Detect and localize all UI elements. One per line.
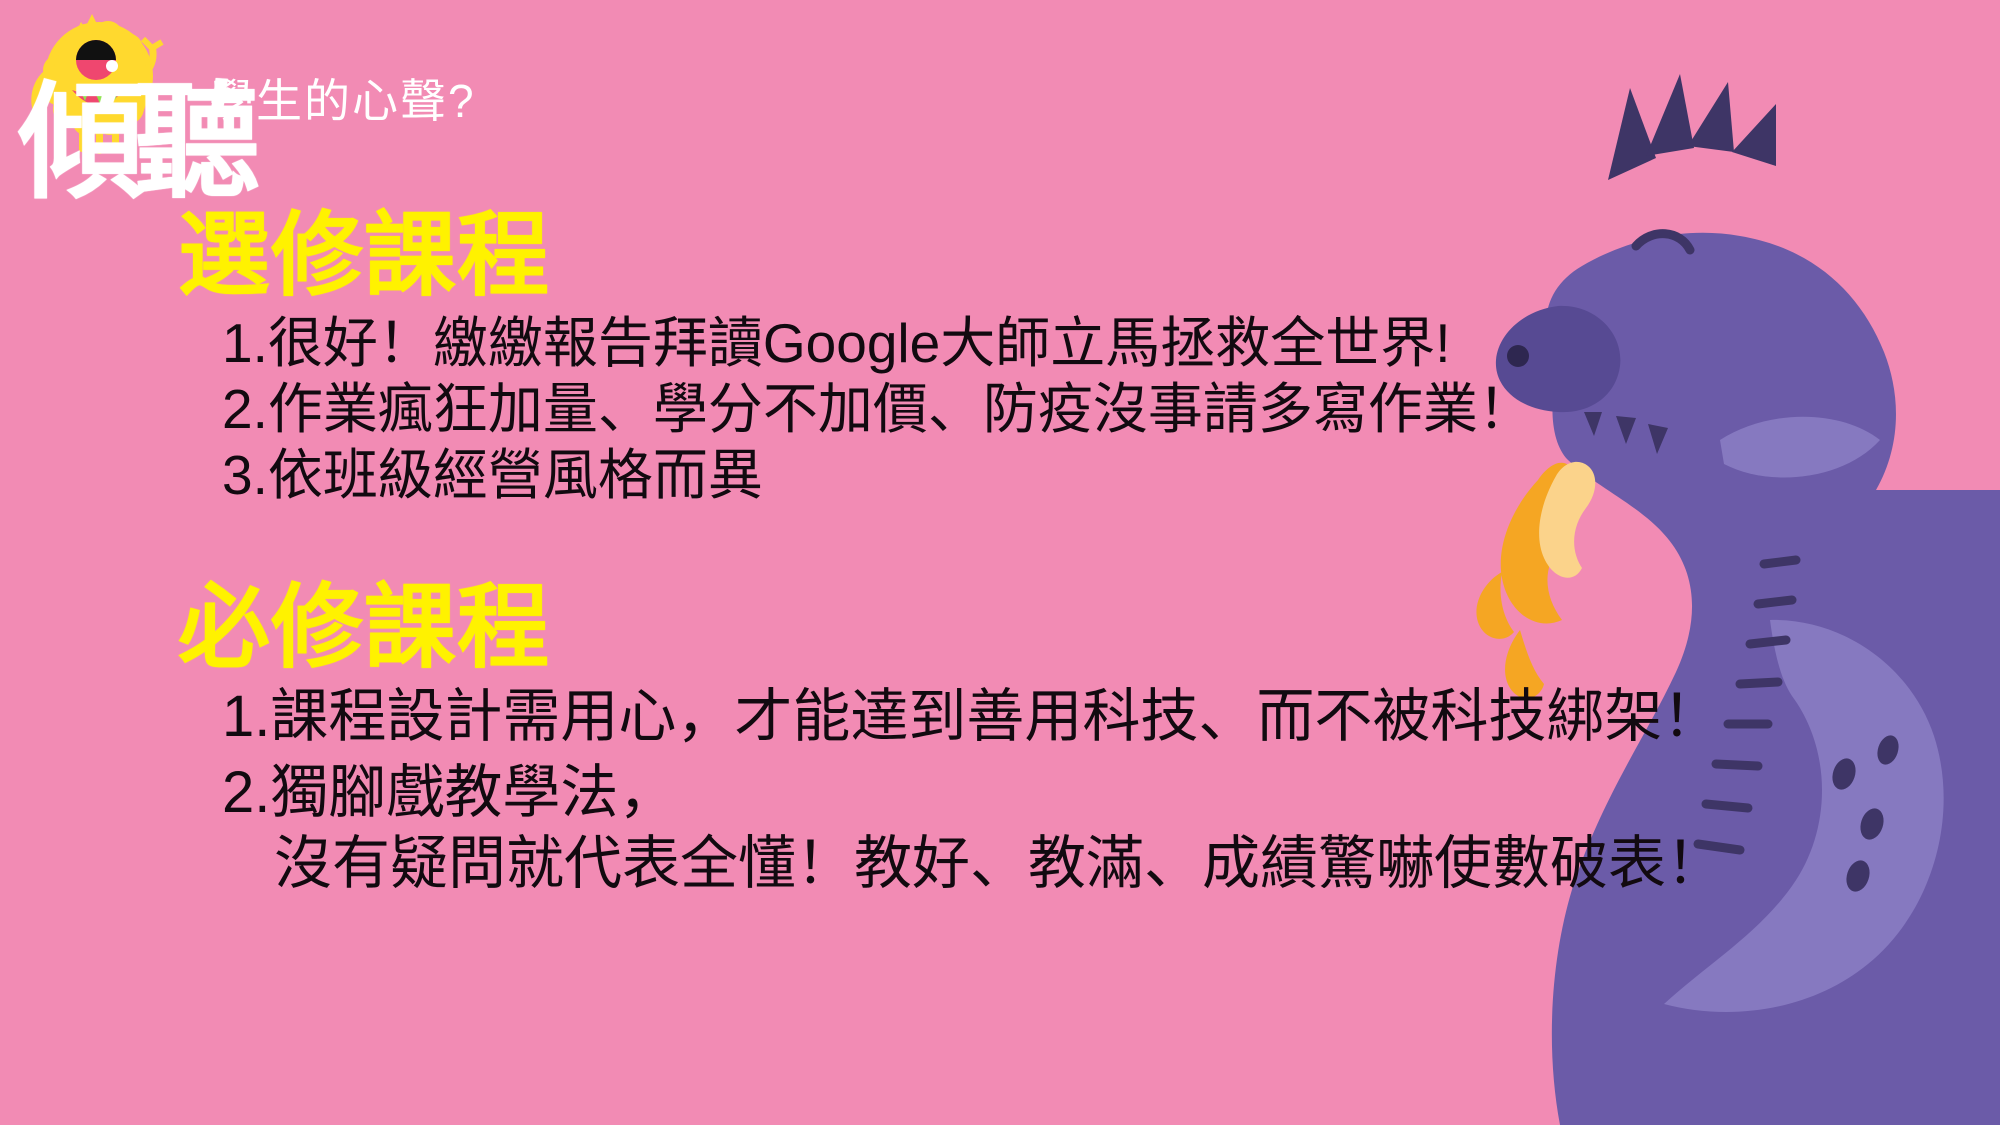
slide-canvas: 傾聽 學生的心聲? 選修課程 1.很好！繳繳報告拜讀Google大師立馬拯救全世… (0, 0, 2000, 1125)
list-item-number: 2. (222, 378, 268, 440)
slide-header: 傾聽 學生的心聲? (0, 0, 900, 230)
section-heading-elective: 選修課程 (178, 210, 1700, 304)
section-heading-required: 必修課程 (178, 582, 1700, 676)
dragon-spikes-icon (1608, 74, 1776, 180)
list-item: 2.作業瘋狂加量、學分不加價、防疫沒事請多寫作業！ (0, 376, 1700, 442)
list-item: 2.獨腳戲教學法，沒有疑問就代表全懂！教好、教滿、成績驚嚇使數破表！ (0, 758, 1700, 900)
list-item-text: 很好！繳繳報告拜讀Google大師立馬拯救全世界! (268, 312, 1451, 374)
list-item: 1.課程設計需用心，才能達到善用科技、而不被科技綁架！ (0, 682, 1700, 753)
list-item-number: 2. (222, 760, 270, 825)
section-required-courses: 必修課程 1.課程設計需用心，才能達到善用科技、而不被科技綁架！ 2.獨腳戲教學… (0, 582, 1700, 900)
list-item-number: 3. (222, 444, 268, 506)
section-elective-courses: 選修課程 1.很好！繳繳報告拜讀Google大師立馬拯救全世界! 2.作業瘋狂加… (0, 210, 1700, 508)
list-item: 3.依班級經營風格而異 (0, 442, 1700, 508)
list-item-number: 1. (222, 684, 270, 749)
elective-course-list: 1.很好！繳繳報告拜讀Google大師立馬拯救全世界! 2.作業瘋狂加量、學分不… (0, 310, 1700, 508)
slide-body: 選修課程 1.很好！繳繳報告拜讀Google大師立馬拯救全世界! 2.作業瘋狂加… (0, 210, 1700, 900)
required-course-list: 1.課程設計需用心，才能達到善用科技、而不被科技綁架！ 2.獨腳戲教學法，沒有疑… (0, 682, 1700, 900)
list-item-text: 課程設計需用心，才能達到善用科技、而不被科技綁架！ (270, 684, 1720, 749)
list-item-text: 作業瘋狂加量、學分不加價、防疫沒事請多寫作業！ (268, 378, 1533, 440)
list-item-text: 獨腳戲教學法， (270, 760, 676, 825)
list-item-continuation: 沒有疑問就代表全懂！教好、教滿、成績驚嚇使數破表！ (222, 829, 1700, 900)
list-item-number: 1. (222, 312, 268, 374)
page-subtitle: 學生的心聲? (208, 78, 476, 124)
list-item: 1.很好！繳繳報告拜讀Google大師立馬拯救全世界! (0, 310, 1700, 376)
list-item-text: 依班級經營風格而異 (268, 444, 763, 506)
